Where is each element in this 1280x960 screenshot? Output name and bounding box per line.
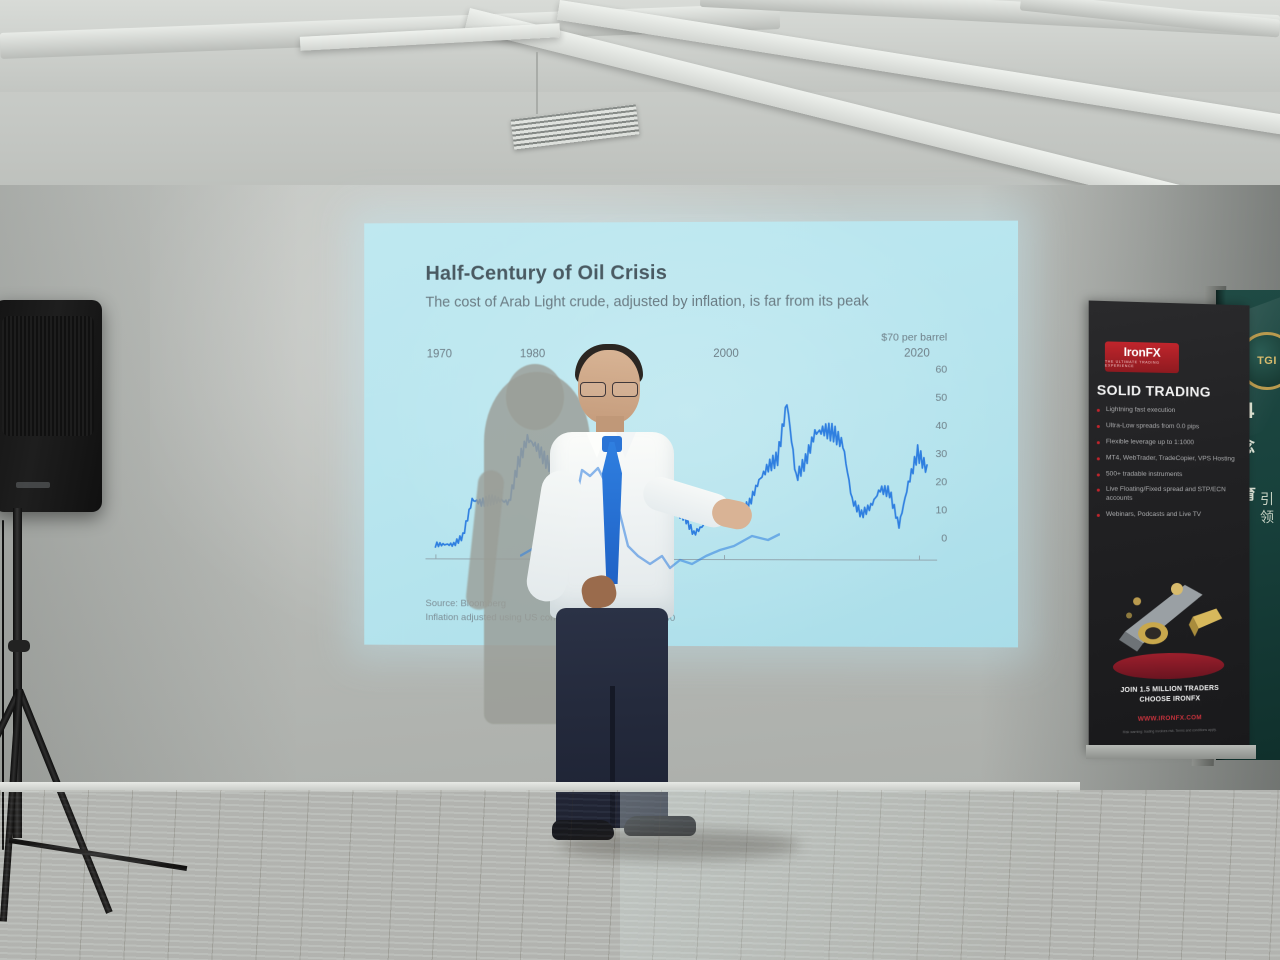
banner-base-stand (1086, 745, 1256, 759)
air-vent-diffuser (511, 104, 640, 149)
tgi-logo-text: TGI (1257, 355, 1277, 367)
ironfx-bullet-1: Ultra-Low spreads from 0.0 pips (1097, 422, 1242, 433)
slide-title: Half-Century of Oil Crisis (425, 262, 667, 286)
ironfx-bullet-4: 500+ tradable instruments (1097, 470, 1242, 480)
y-tick-0: 0 (941, 532, 947, 544)
ironfx-bullet-list: Lightning fast executionUltra-Low spread… (1097, 406, 1242, 527)
presenter (520, 350, 780, 850)
x-tick-1970: 1970 (427, 348, 452, 360)
y-tick-40: 40 (935, 420, 947, 432)
ironfx-logo-text: IronFX (1124, 346, 1161, 359)
ironfx-cta: JOIN 1.5 MILLION TRADERS CHOOSE IRONFX (1089, 683, 1250, 707)
ironfx-bullet-6: Webinars, Podcasts and Live TV (1097, 511, 1242, 520)
vent-slats-icon (511, 104, 640, 149)
ironfx-bullet-3: MT4, WebTrader, TradeCopier, VPS Hosting (1097, 454, 1242, 464)
ironfx-bullet-0: Lightning fast execution (1097, 406, 1242, 417)
y-tick-60: 60 (935, 364, 947, 376)
speaker-grille (2, 316, 94, 436)
y-tick-20: 20 (935, 476, 947, 488)
speaker-badge (16, 482, 50, 488)
ironfx-podium-graphic (1113, 652, 1224, 680)
chart-unit-label: $70 per barrel (881, 331, 947, 343)
x-tick-mark-2020 (919, 556, 920, 561)
tgi-chinese-line-3: 引领 (1260, 490, 1280, 526)
ironfx-logo-tagline: THE ULTIMATE TRADING EXPERIENCE (1105, 360, 1179, 370)
ironfx-bullet-2: Flexible leverage up to 1:1000 (1097, 438, 1242, 449)
presenter-floor-shadow (560, 830, 800, 860)
banner-ironfx: IronFX THE ULTIMATE TRADING EXPERIENCE S… (1089, 301, 1250, 754)
ironfx-heading: SOLID TRADING (1097, 382, 1211, 400)
x-tick-2020: 2020 (904, 348, 930, 360)
floor-light-reflection (620, 790, 1280, 960)
gold-bars-graphic (1107, 571, 1232, 665)
y-tick-30: 30 (935, 448, 947, 460)
presentation-room-photo: Half-Century of Oil Crisis The cost of A… (0, 0, 1280, 960)
ceiling (0, 0, 1280, 185)
tripod-height-knob[interactable] (8, 640, 30, 652)
vent-hanger-rod (536, 52, 538, 114)
ironfx-logo: IronFX THE ULTIMATE TRADING EXPERIENCE (1105, 341, 1179, 373)
ironfx-bullet-5: Live Floating/Fixed spread and STP/ECN a… (1097, 486, 1242, 504)
slide-subtitle: The cost of Arab Light crude, adjusted b… (425, 293, 868, 310)
y-tick-50: 50 (935, 392, 947, 404)
y-tick-10: 10 (935, 504, 947, 516)
ironfx-disclaimer: Risk warning: trading involves risk. Ter… (1089, 727, 1250, 737)
x-tick-mark-1970 (435, 554, 436, 559)
ironfx-url: WWW.IRONFX.COM (1089, 713, 1250, 724)
